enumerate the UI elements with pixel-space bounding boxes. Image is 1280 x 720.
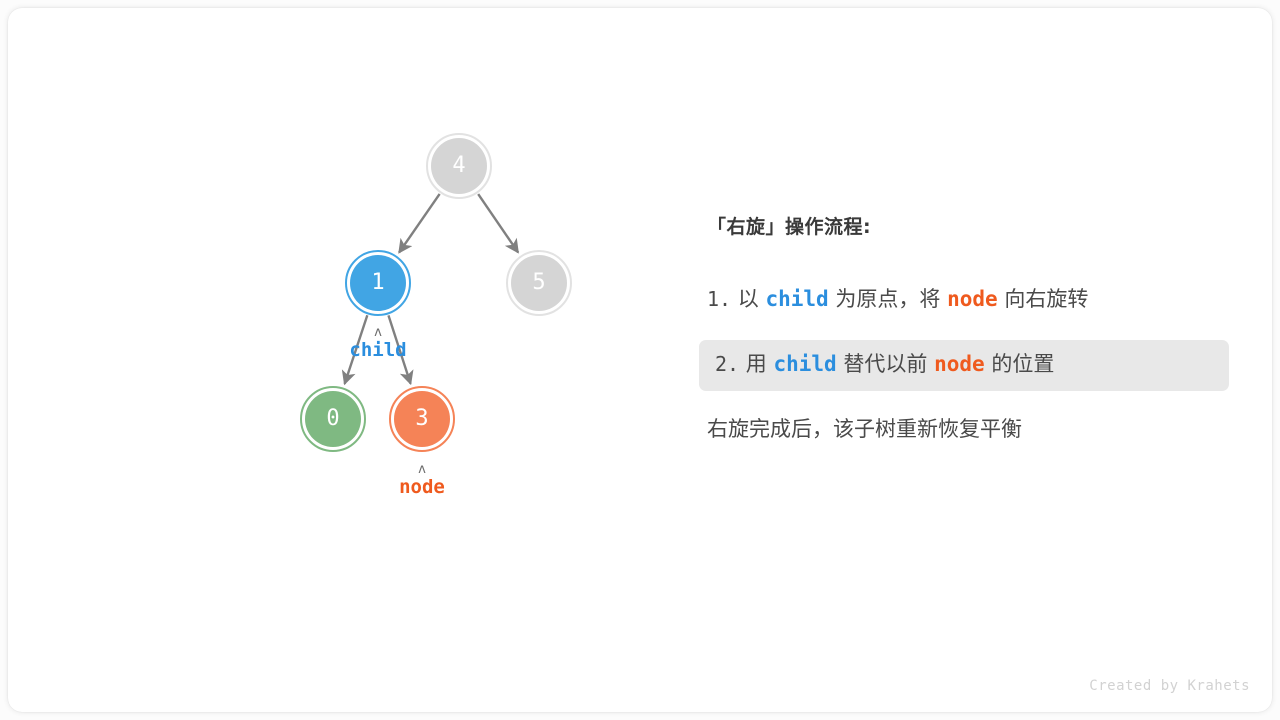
- step-code-node: node: [934, 352, 985, 376]
- step-number: 1.: [707, 287, 731, 311]
- tree-node-0: 0: [300, 386, 366, 452]
- tree-edges: [8, 8, 668, 712]
- tree-node-4: 4: [426, 133, 492, 199]
- pointer-label-node: ʌnode: [352, 463, 492, 497]
- step-text-part-2: 为原点，将: [835, 287, 940, 311]
- step-text-part-1: 以: [738, 287, 759, 311]
- node-value: 0: [326, 408, 339, 430]
- step-item-1: 1. 以 child 为原点，将 node 向右旋转: [699, 275, 1229, 326]
- screenshot-canvas: 41503 ʌchildʌnode 「右旋」操作流程: 1. 以 child 为…: [0, 0, 1280, 720]
- summary-note: 右旋完成后，该子树重新恢复平衡: [707, 419, 1229, 440]
- node-value: 4: [452, 155, 465, 177]
- credit-label: Created by Krahets: [1089, 678, 1250, 694]
- step-code-child: child: [773, 352, 836, 376]
- tree-edge-4-to-1: [399, 194, 440, 253]
- pointer-label-child: ʌchild: [308, 326, 448, 360]
- tree-node-1: 1: [345, 250, 411, 316]
- node-value: 5: [532, 272, 545, 294]
- pointer-text: node: [399, 476, 445, 498]
- step-number: 2.: [715, 352, 739, 376]
- pointer-text: child: [349, 339, 406, 361]
- page-title: 「右旋」操作流程:: [707, 218, 1229, 237]
- step-code-node: node: [947, 287, 998, 311]
- step-text-part-3: 向右旋转: [1004, 287, 1088, 311]
- binary-tree-diagram: 41503 ʌchildʌnode: [8, 8, 668, 712]
- caret-icon: ʌ: [352, 463, 492, 476]
- step-text-part-3: 的位置: [991, 352, 1054, 376]
- caret-icon: ʌ: [308, 326, 448, 339]
- step-text-part-2: 替代以前: [843, 352, 927, 376]
- node-value: 3: [415, 408, 428, 430]
- step-text-part-1: 用: [746, 352, 767, 376]
- diagram-card: 41503 ʌchildʌnode 「右旋」操作流程: 1. 以 child 为…: [8, 8, 1272, 712]
- tree-node-3: 3: [389, 386, 455, 452]
- explanation-panel: 「右旋」操作流程: 1. 以 child 为原点，将 node 向右旋转2. 用…: [699, 218, 1229, 440]
- step-code-child: child: [765, 287, 828, 311]
- step-item-2: 2. 用 child 替代以前 node 的位置: [699, 340, 1229, 391]
- tree-edge-4-to-5: [478, 194, 518, 252]
- steps-list: 1. 以 child 为原点，将 node 向右旋转2. 用 child 替代以…: [699, 275, 1229, 391]
- tree-node-5: 5: [506, 250, 572, 316]
- node-value: 1: [371, 272, 384, 294]
